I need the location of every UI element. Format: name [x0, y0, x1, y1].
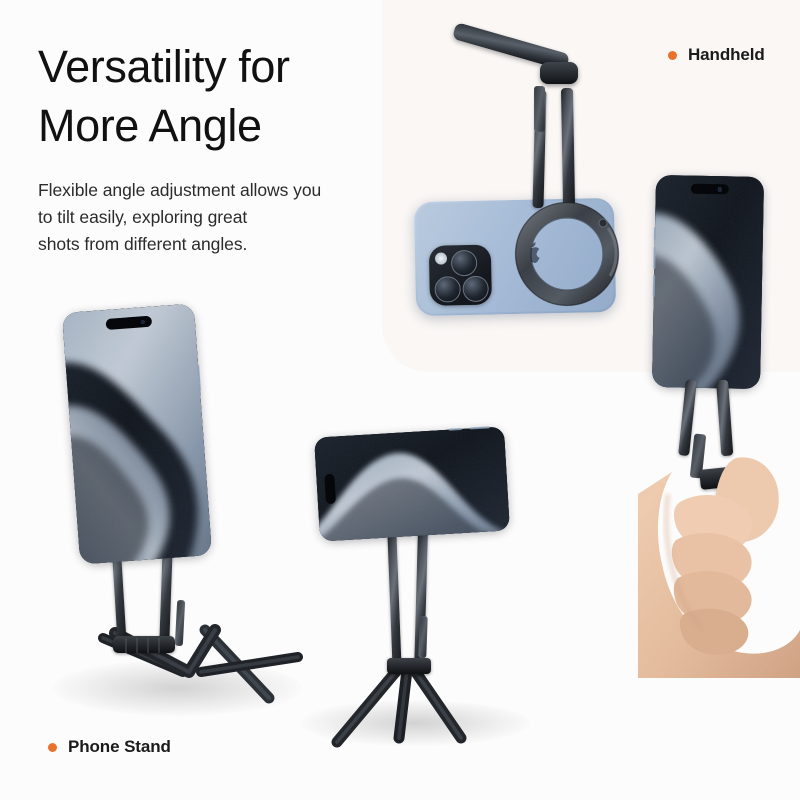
tripod-hinge [387, 658, 431, 674]
phone-side-button [653, 247, 655, 269]
phone-side-button [653, 275, 655, 297]
dynamic-island-icon [691, 184, 729, 195]
body-line-1: Flexible angle adjustment allows you [38, 180, 321, 200]
camera-lens-icon [451, 250, 478, 277]
camera-lens-icon [462, 276, 489, 303]
body-line-3: shots from different angles. [38, 234, 247, 254]
wallpaper-blue-titanium [652, 175, 764, 389]
phone-screen [314, 426, 510, 541]
camera-flash-icon [435, 252, 447, 264]
bullet-dot-icon [48, 743, 57, 752]
product-marketing-image: Versatility for More Angle Flexible angl… [0, 0, 800, 800]
phone-screen [62, 304, 212, 565]
product-phone-stand-portrait [55, 300, 325, 720]
headline-line-1: Versatility for [38, 41, 290, 92]
wallpaper-blue-titanium [314, 426, 510, 541]
callout-phone-stand-label: Phone Stand [68, 737, 171, 757]
hand-holding-stand [628, 398, 800, 678]
phone-portrait [62, 304, 212, 565]
page-title: Versatility for More Angle [38, 38, 388, 155]
handheld-elbow-joint [540, 62, 578, 84]
phone-screen [652, 175, 764, 389]
page-subtitle: Flexible angle adjustment allows you to … [38, 177, 388, 258]
phone-landscape [314, 426, 510, 541]
camera-lens-icon [434, 276, 461, 303]
product-handheld-in-hand [628, 168, 800, 668]
hinge-teeth-icon [113, 636, 183, 656]
magsafe-ring-clamp [504, 188, 634, 318]
callout-handheld-label: Handheld [688, 45, 765, 65]
headline-line-2: More Angle [38, 100, 262, 151]
phone-portrait-handheld [652, 175, 764, 389]
product-phone-stand-landscape [295, 420, 545, 750]
tripod-brand-chip [418, 616, 427, 658]
wallpaper-blue-titanium [62, 304, 212, 565]
dynamic-island-icon [324, 474, 336, 505]
body-line-2: to tilt easily, exploring great [38, 207, 247, 227]
copy-block: Versatility for More Angle Flexible angl… [38, 38, 388, 258]
camera-module [429, 245, 492, 306]
callout-phone-stand: Phone Stand [48, 737, 171, 757]
bullet-dot-icon [668, 51, 677, 60]
phone-side-button [654, 227, 656, 240]
callout-handheld: Handheld [668, 45, 765, 65]
handheld-brand-chip [534, 86, 545, 132]
